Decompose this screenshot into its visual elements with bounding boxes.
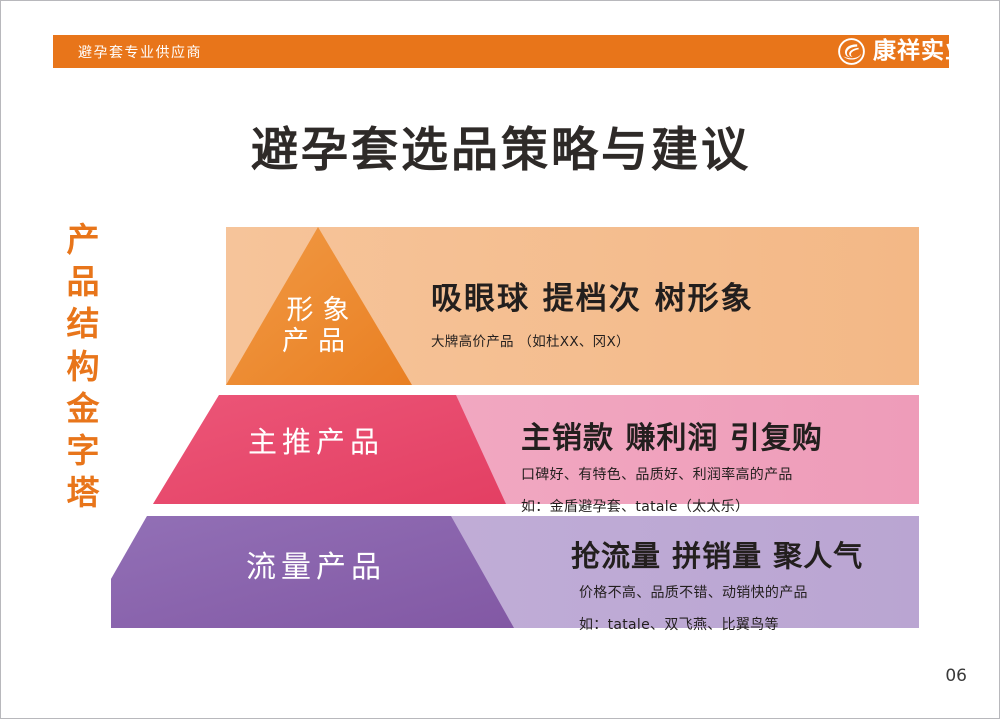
- tier-content-middle: 主销款 赚利润 引复购 口碑好、有特色、品质好、利润率高的产品 如：金盾避孕套、…: [521, 413, 823, 520]
- tier-subline-middle-2: 如：金盾避孕套、tatale（太太乐）: [521, 494, 823, 521]
- tier-headline-bottom: 抢流量 拼销量 聚人气: [571, 533, 863, 575]
- tier-subline-top-1: 大牌高价产品 （如杜XX、冈X）: [431, 330, 754, 356]
- tier-label-middle: 主推产品: [216, 426, 416, 459]
- tier-headline-top: 吸眼球 提档次 树形象: [431, 273, 754, 318]
- tier-subline-bottom-2: 如：tatale、双飞燕、比翼鸟等: [571, 612, 863, 639]
- tier-subline-middle-1: 口碑好、有特色、品质好、利润率高的产品: [521, 462, 823, 489]
- slide-canvas: 避孕套专业供应商 康祥实业 避孕套选品策略与建议 产品结构金字塔: [0, 0, 1000, 719]
- tier-label-top: 形象产品: [263, 296, 373, 358]
- page-number: 06: [945, 666, 967, 686]
- tier-label-bottom: 流量产品: [211, 551, 421, 585]
- tier-content-top: 吸眼球 提档次 树形象 大牌高价产品 （如杜XX、冈X）: [431, 273, 754, 356]
- tier-headline-middle: 主销款 赚利润 引复购: [521, 413, 823, 457]
- tier-subline-bottom-1: 价格不高、品质不错、动销快的产品: [571, 580, 863, 607]
- tier-content-bottom: 抢流量 拼销量 聚人气 价格不高、品质不错、动销快的产品 如：tatale、双飞…: [571, 533, 863, 638]
